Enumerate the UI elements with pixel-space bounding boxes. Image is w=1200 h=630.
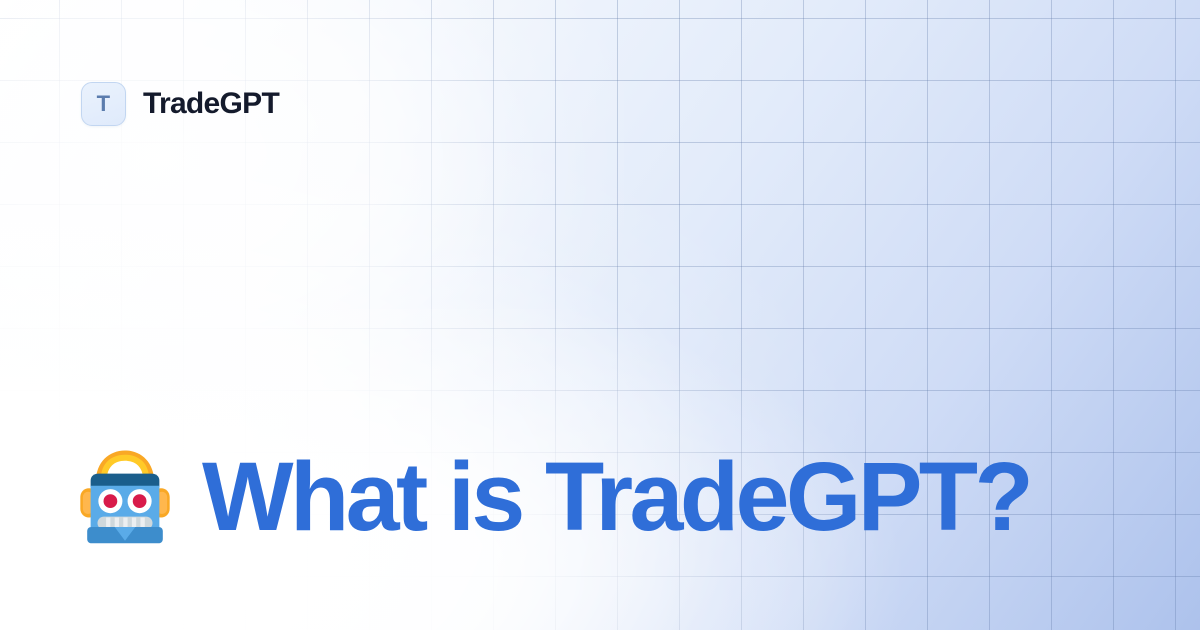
og-card: T TradeGPT	[0, 0, 1200, 630]
brand-row: T TradeGPT	[81, 82, 279, 126]
brand-name: TradeGPT	[143, 89, 279, 119]
tradegpt-logo-badge: T	[81, 82, 126, 126]
robot-emoji	[70, 441, 180, 551]
headline-row: What is TradeGPT?	[70, 441, 1030, 551]
page-title: What is TradeGPT?	[202, 448, 1030, 545]
brand-badge-letter: T	[97, 93, 111, 115]
